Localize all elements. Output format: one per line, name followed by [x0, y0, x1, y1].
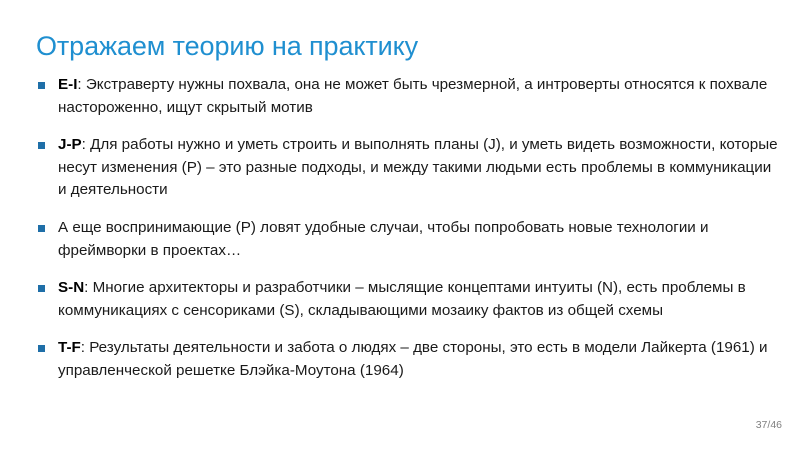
list-item-body: : Результаты деятельности и забота о люд… — [58, 339, 768, 379]
square-bullet-icon — [38, 225, 45, 232]
square-bullet-icon — [38, 285, 45, 292]
list-item-text: А еще воспринимающие (P) ловят удобные с… — [58, 217, 778, 262]
presentation-slide: Отражаем теорию на практику E-I: Экстрав… — [0, 0, 800, 450]
list-item-prefix: T-F — [58, 339, 81, 356]
list-item-body: : Экстраверту нужны похвала, она не може… — [58, 76, 767, 116]
list-item-text: J-P: Для работы нужно и уметь строить и … — [58, 134, 778, 202]
list-item-body: : Многие архитекторы и разработчики – мы… — [58, 279, 746, 319]
square-bullet-icon — [38, 82, 45, 89]
page-number: 37/46 — [748, 418, 782, 432]
list-item: J-P: Для работы нужно и уметь строить и … — [36, 134, 778, 202]
list-item-body: А еще воспринимающие (P) ловят удобные с… — [58, 219, 709, 259]
page-title: Отражаем теорию на практику — [36, 30, 766, 62]
list-item-prefix: E-I — [58, 76, 77, 93]
list-item: А еще воспринимающие (P) ловят удобные с… — [36, 217, 778, 262]
list-item: T-F: Результаты деятельности и забота о … — [36, 337, 778, 382]
square-bullet-icon — [38, 345, 45, 352]
list-item-text: S-N: Многие архитекторы и разработчики –… — [58, 277, 778, 322]
list-item-body: : Для работы нужно и уметь строить и вып… — [58, 136, 778, 198]
square-bullet-icon — [38, 142, 45, 149]
list-item: E-I: Экстраверту нужны похвала, она не м… — [36, 74, 778, 119]
list-item-prefix: S-N — [58, 279, 84, 296]
list-item-prefix: J-P — [58, 136, 82, 153]
list-item: S-N: Многие архитекторы и разработчики –… — [36, 277, 778, 322]
list-item-text: E-I: Экстраверту нужны похвала, она не м… — [58, 74, 778, 119]
list-item-text: T-F: Результаты деятельности и забота о … — [58, 337, 778, 382]
bullet-list: E-I: Экстраверту нужны похвала, она не м… — [36, 74, 778, 383]
